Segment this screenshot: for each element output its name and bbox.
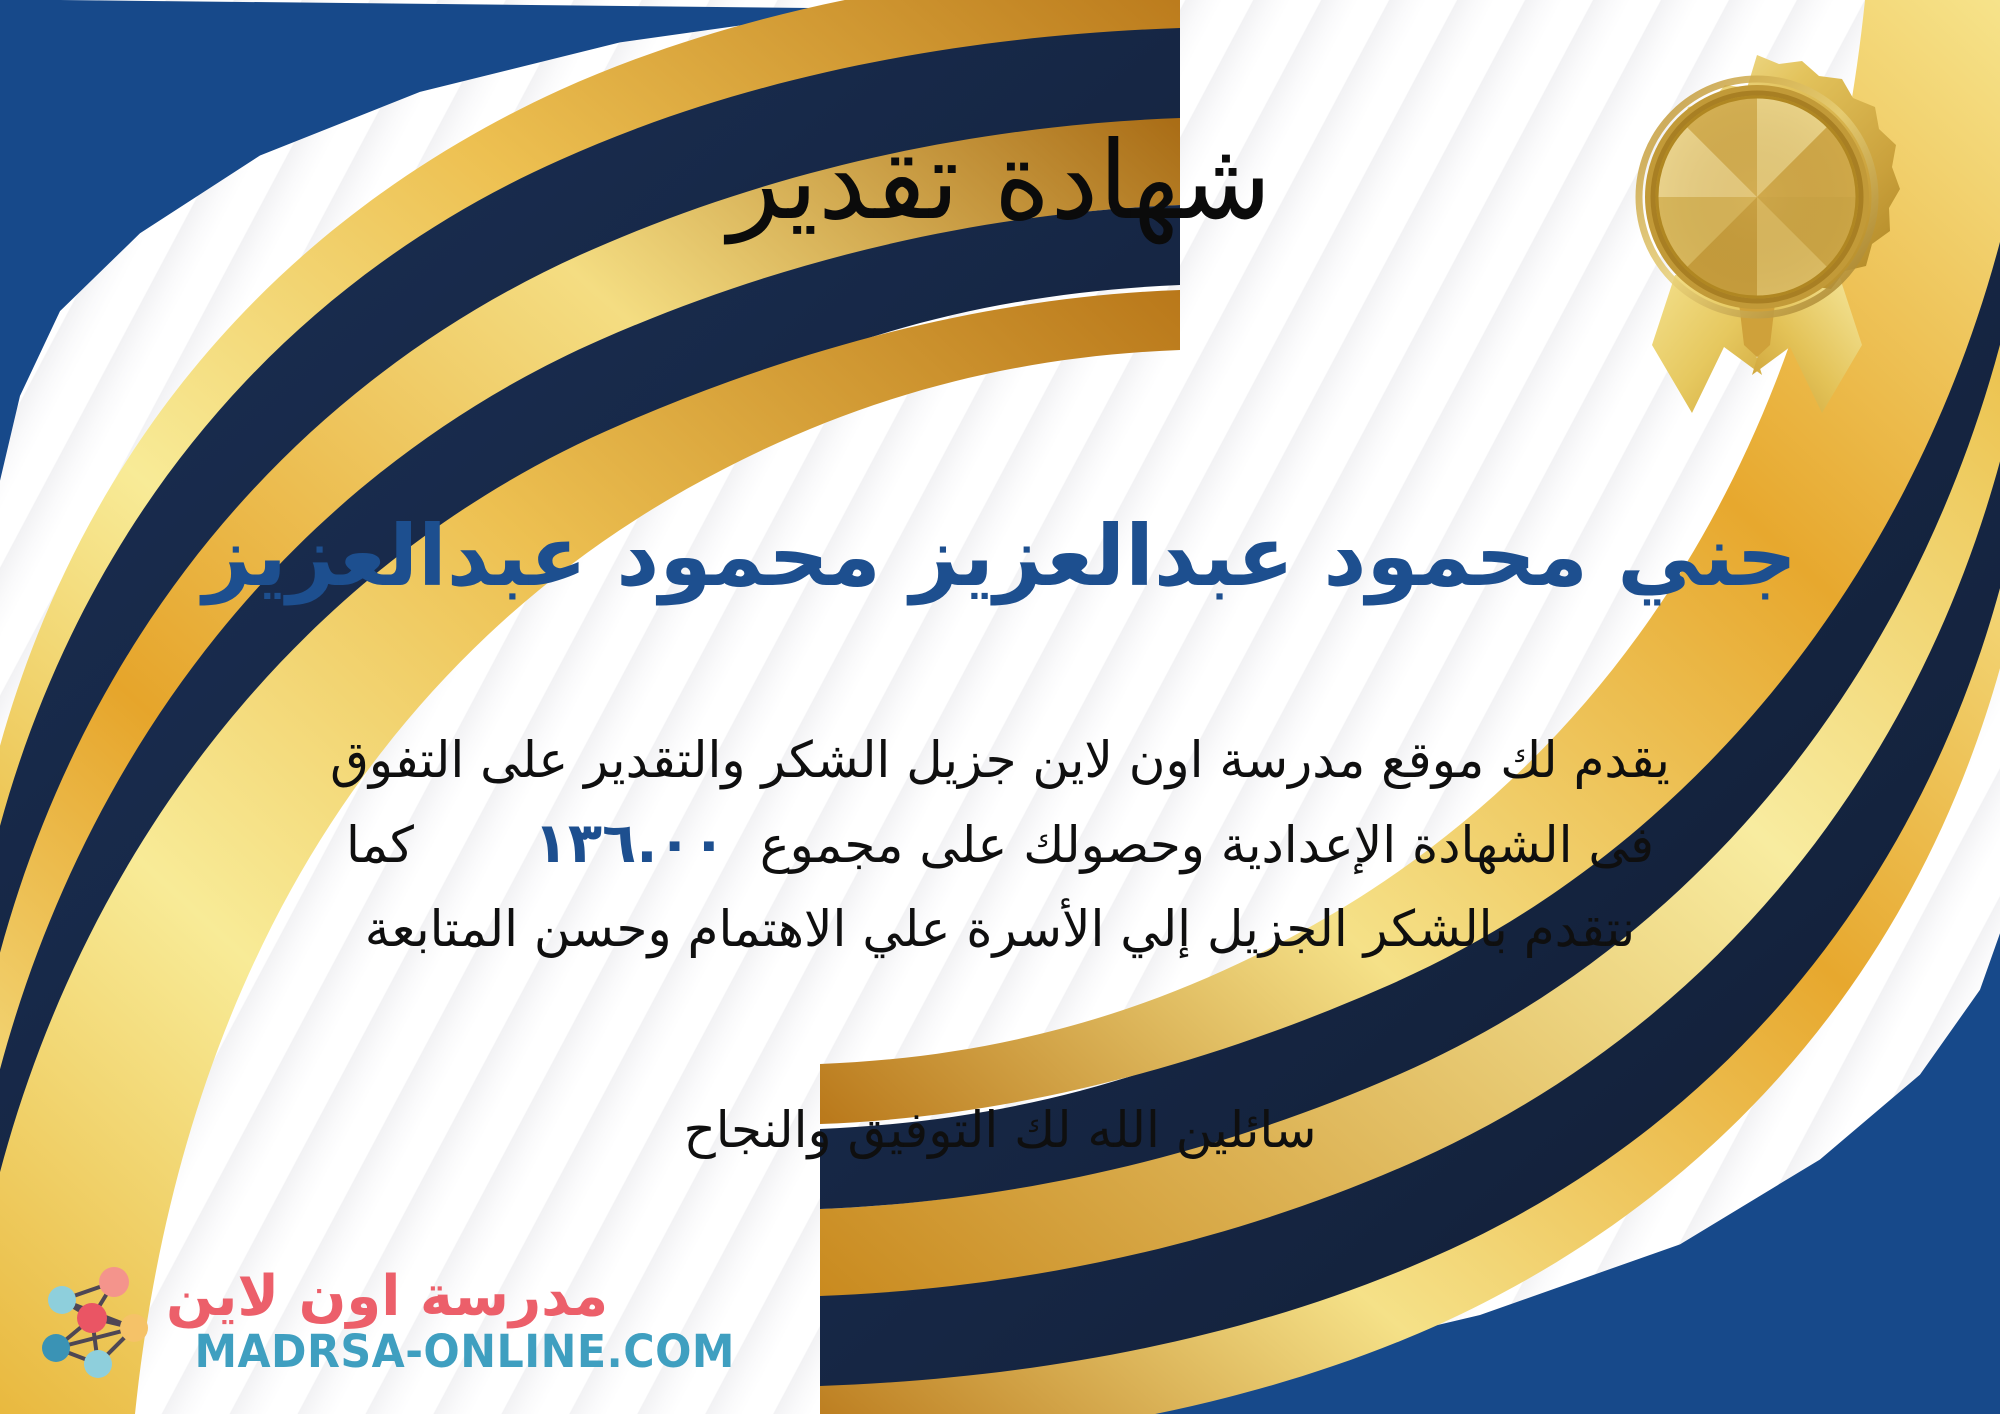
body-line-1: يقدم لك موقع مدرسة اون لاين جزيل الشكر و… xyxy=(0,718,2000,802)
brand-logo[interactable]: مدرسة اون لاين MADRSA-ONLINE.COM xyxy=(26,1246,586,1396)
body-line-3: نتقدم بالشكر الجزيل إلي الأسرة علي الاهت… xyxy=(0,887,2000,971)
certificate-canvas: شهادة تقدير جني محمود عبدالعزيز محمود عب… xyxy=(0,0,2000,1414)
body-paragraph: يقدم لك موقع مدرسة اون لاين جزيل الشكر و… xyxy=(0,718,2000,971)
brand-website-url: MADRSA-ONLINE.COM xyxy=(194,1329,734,1374)
closing-wish-text: سائلين الله لك التوفيق والنجاح xyxy=(0,1100,2000,1160)
certificate-content: شهادة تقدير جني محمود عبدالعزيز محمود عب… xyxy=(0,0,2000,1414)
brand-text-block: مدرسة اون لاين MADRSA-ONLINE.COM xyxy=(166,1269,735,1374)
grade-total-value: ١٣٦.٠٠ xyxy=(516,802,744,886)
body-line-2-prefix: فى الشهادة الإعدادية وحصولك على مجموع xyxy=(760,816,1654,874)
network-nodes-icon xyxy=(26,1256,156,1386)
body-line-2-suffix: كما xyxy=(346,816,414,874)
page-title: شهادة تقدير xyxy=(0,125,2000,238)
brand-arabic-name: مدرسة اون لاين xyxy=(166,1269,608,1325)
recipient-name: جني محمود عبدالعزيز محمود عبدالعزيز xyxy=(0,510,2000,602)
body-line-2: فى الشهادة الإعدادية وحصولك على مجموع ١٣… xyxy=(0,802,2000,887)
